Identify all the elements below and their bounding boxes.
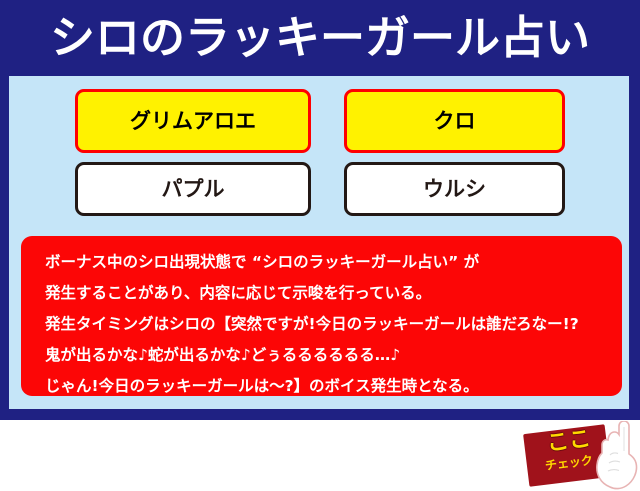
character-button-papuru[interactable]: パプル (75, 162, 311, 216)
pointing-hand-icon (584, 421, 640, 491)
page-header: シロのラッキーガール占い (0, 0, 640, 76)
info-line-4: 鬼が出るかな♪蛇が出るかな♪どぅるるるるるる…♪ (45, 340, 615, 371)
info-line-3: 発生タイミングはシロの【突然ですが!今日のラッキーガールは誰だろなー!? (45, 309, 615, 340)
info-line-5: じゃん!今日のラッキーガールは〜?】のボイス発生時となる。 (45, 371, 615, 396)
character-button-grid: グリムアロエ クロ パプル ウルシ (75, 89, 565, 219)
check-here-badge: ここ チェック (526, 421, 640, 491)
character-button-urushi[interactable]: ウルシ (344, 162, 565, 216)
info-box: ボーナス中のシロ出現状態で “シロのラッキーガール占い” が 発生することがあり… (21, 236, 622, 396)
info-line-2: 発生することがあり、内容に応じて示唆を行っている。 (45, 278, 615, 309)
info-line-1: ボーナス中のシロ出現状態で “シロのラッキーガール占い” が (45, 247, 615, 278)
info-box-text: ボーナス中のシロ出現状態で “シロのラッキーガール占い” が 発生することがあり… (45, 247, 615, 396)
content-panel: グリムアロエ クロ パプル ウルシ ボーナス中のシロ出現状態で “シロのラッキー… (9, 76, 629, 409)
character-button-kuro[interactable]: クロ (344, 89, 565, 153)
character-button-gurimuaroe[interactable]: グリムアロエ (75, 89, 311, 153)
page-title: シロのラッキーガール占い (50, 13, 590, 63)
page-root: シロのラッキーガール占い グリムアロエ クロ パプル ウルシ ボーナス中のシロ出… (0, 0, 640, 420)
